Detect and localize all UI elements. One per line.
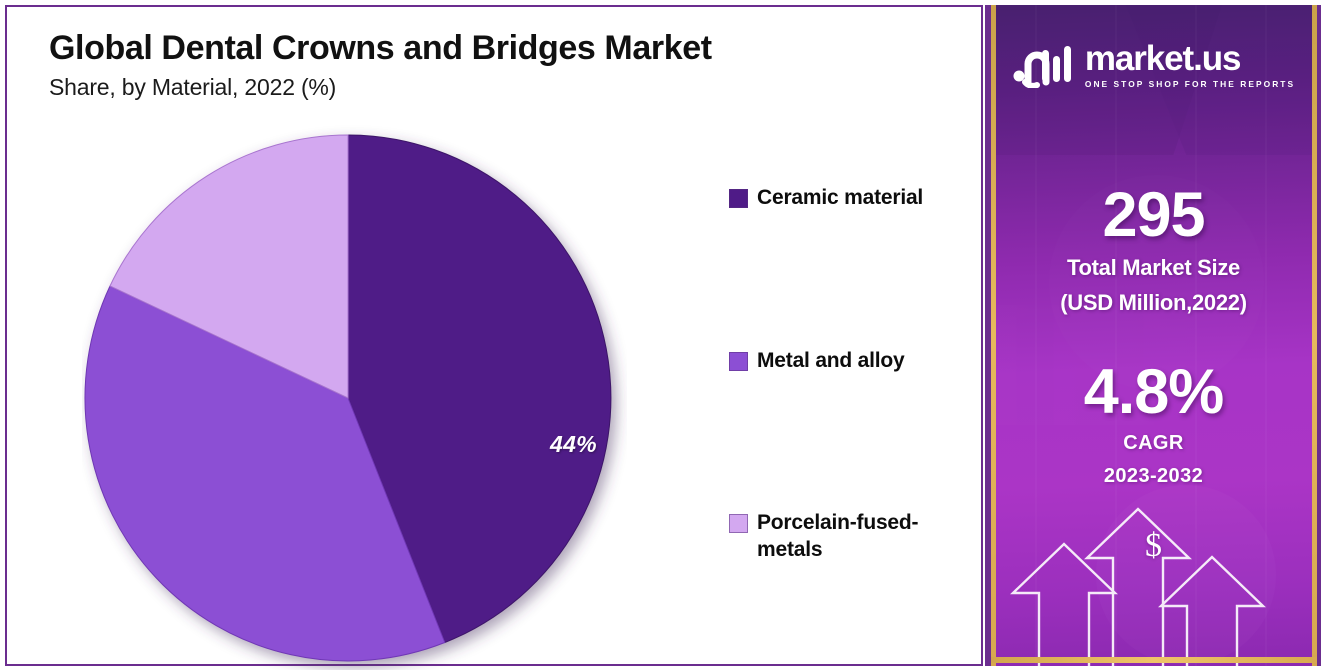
infographic-canvas: Global Dental Crowns and Bridges Market … xyxy=(0,0,1321,671)
page-title: Global Dental Crowns and Bridges Market xyxy=(49,29,712,68)
stat-total-market-size: 295 Total Market Size (USD Million,2022) xyxy=(991,183,1316,317)
stat-label-line1: Total Market Size xyxy=(991,253,1316,282)
pie-slice-label-ceramic: 44% xyxy=(550,431,597,458)
brand-logo: market.us ONE STOP SHOP FOR THE REPORTS xyxy=(991,41,1316,89)
stat-value: 4.8% xyxy=(991,360,1316,424)
legend-item-metal-and-alloy[interactable]: Metal and alloy xyxy=(729,348,905,375)
panel-purple-border-right xyxy=(1317,5,1321,666)
legend-swatch-icon xyxy=(729,352,748,371)
legend-swatch-icon xyxy=(729,189,748,208)
page-subtitle: Share, by Material, 2022 (%) xyxy=(49,74,712,101)
pie-slices xyxy=(85,135,611,661)
panel-gold-stripe-left xyxy=(991,5,996,666)
pie-chart-svg xyxy=(82,125,627,670)
logo-wordmark: market.us xyxy=(1085,41,1295,76)
stats-panel: market.us ONE STOP SHOP FOR THE REPORTS … xyxy=(991,5,1316,666)
logo-tagline: ONE STOP SHOP FOR THE REPORTS xyxy=(1085,79,1295,89)
logo-text: market.us ONE STOP SHOP FOR THE REPORTS xyxy=(1085,41,1295,89)
market-us-logo-icon xyxy=(1012,42,1074,88)
chart-panel: Global Dental Crowns and Bridges Market … xyxy=(5,5,983,666)
legend-label: Porcelain-fused-metals xyxy=(757,510,979,564)
stat-label-line2: (USD Million,2022) xyxy=(991,288,1316,317)
stat-label-line1: CAGR xyxy=(991,430,1316,456)
stat-cagr: 4.8% CAGR 2023-2032 xyxy=(991,360,1316,489)
panel-gold-stripe-bottom xyxy=(991,657,1317,663)
legend-swatch-icon xyxy=(729,514,748,533)
legend-label: Metal and alloy xyxy=(757,348,905,375)
stat-label-line2: 2023-2032 xyxy=(991,463,1316,489)
dollar-sign-icon: $ xyxy=(991,527,1316,565)
legend-label: Ceramic material xyxy=(757,185,923,212)
pie-chart: 44% xyxy=(82,125,627,670)
growth-arrows-icon xyxy=(991,496,1316,666)
title-block: Global Dental Crowns and Bridges Market … xyxy=(49,29,712,101)
stat-value: 295 xyxy=(991,183,1316,247)
legend-item-ceramic-material[interactable]: Ceramic material xyxy=(729,185,923,212)
legend-item-porcelain-fused-metals[interactable]: Porcelain-fused-metals xyxy=(729,510,979,564)
